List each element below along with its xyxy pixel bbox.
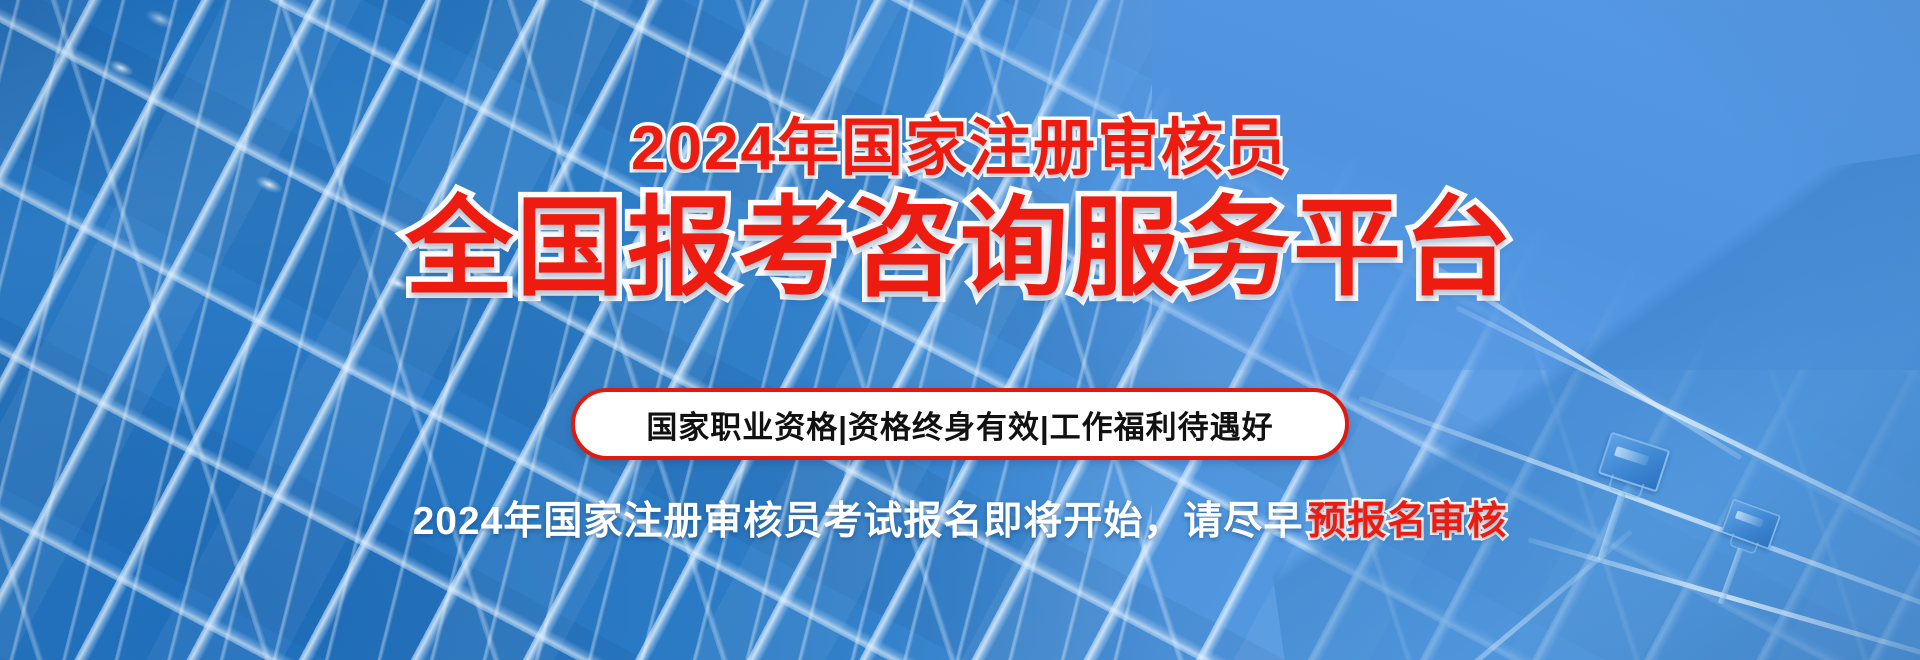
announcement-text: 2024年国家注册审核员考试报名即将开始，请尽早 <box>413 500 1304 543</box>
banner-content: 2024年国家注册审核员 全国报考咨询服务平台 国家职业资格|资格终身有效|工作… <box>0 0 1920 660</box>
announcement-emphasis: 预报名审核 <box>1307 500 1507 543</box>
promo-banner: 2024年国家注册审核员 全国报考咨询服务平台 国家职业资格|资格终身有效|工作… <box>0 0 1920 660</box>
headline-line-2: 全国报考咨询服务平台 <box>405 194 1515 302</box>
qualification-badge: 国家职业资格|资格终身有效|工作福利待遇好 <box>571 388 1349 460</box>
headline-line-1: 2024年国家注册审核员 <box>631 118 1289 180</box>
announcement-subline: 2024年国家注册审核员考试报名即将开始，请尽早预报名审核 <box>413 490 1508 546</box>
qualification-badge-text: 国家职业资格|资格终身有效|工作福利待遇好 <box>646 402 1273 447</box>
